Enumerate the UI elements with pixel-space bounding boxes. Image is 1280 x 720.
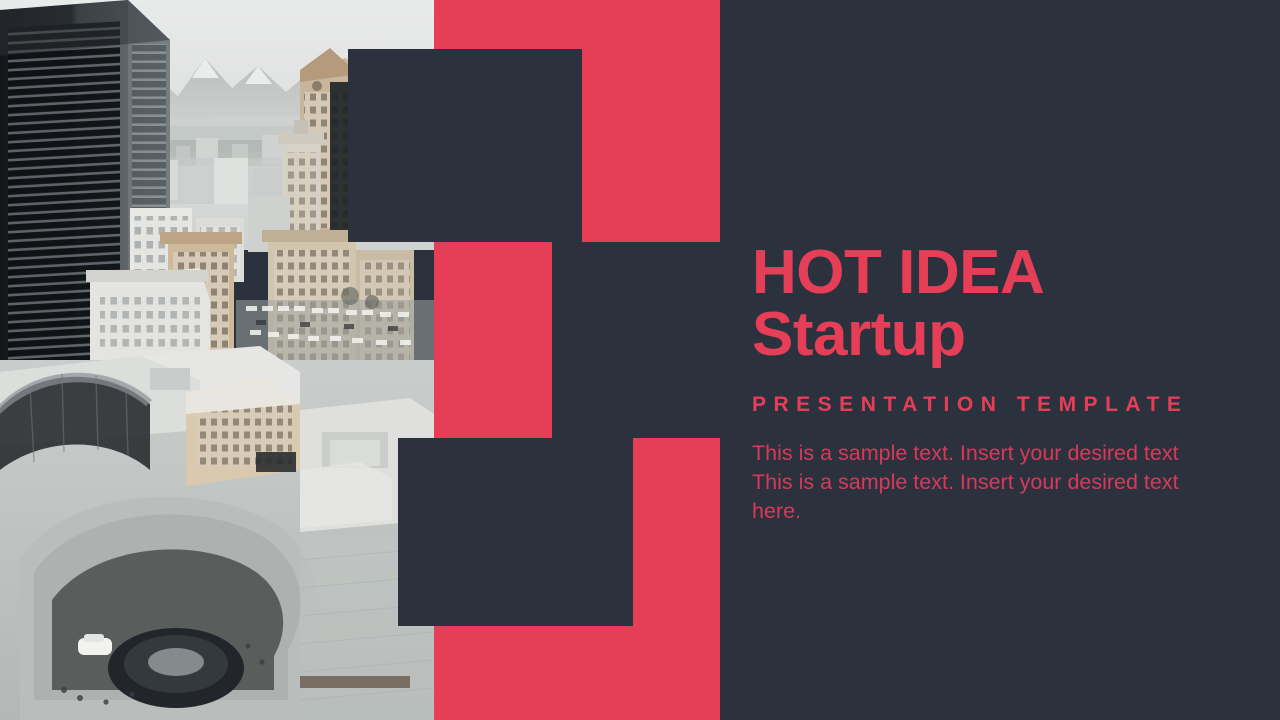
presentation-slide: HOT IDEA Startup PRESENTATION TEMPLATE T… xyxy=(0,0,1280,720)
accent-block-middle-left xyxy=(434,242,552,438)
page-title-line2: Startup xyxy=(752,305,1242,365)
accent-block-bottom-right xyxy=(633,438,720,720)
title-text-block: HOT IDEA Startup PRESENTATION TEMPLATE T… xyxy=(752,243,1242,526)
body-paragraph: This is a sample text. Insert your desir… xyxy=(752,439,1192,525)
accent-block-bottom-bar xyxy=(434,626,633,720)
subtitle: PRESENTATION TEMPLATE xyxy=(752,393,1242,417)
navy-block-bottom xyxy=(398,438,633,626)
page-title-line1: HOT IDEA xyxy=(752,243,1242,303)
navy-block-top xyxy=(348,49,582,242)
